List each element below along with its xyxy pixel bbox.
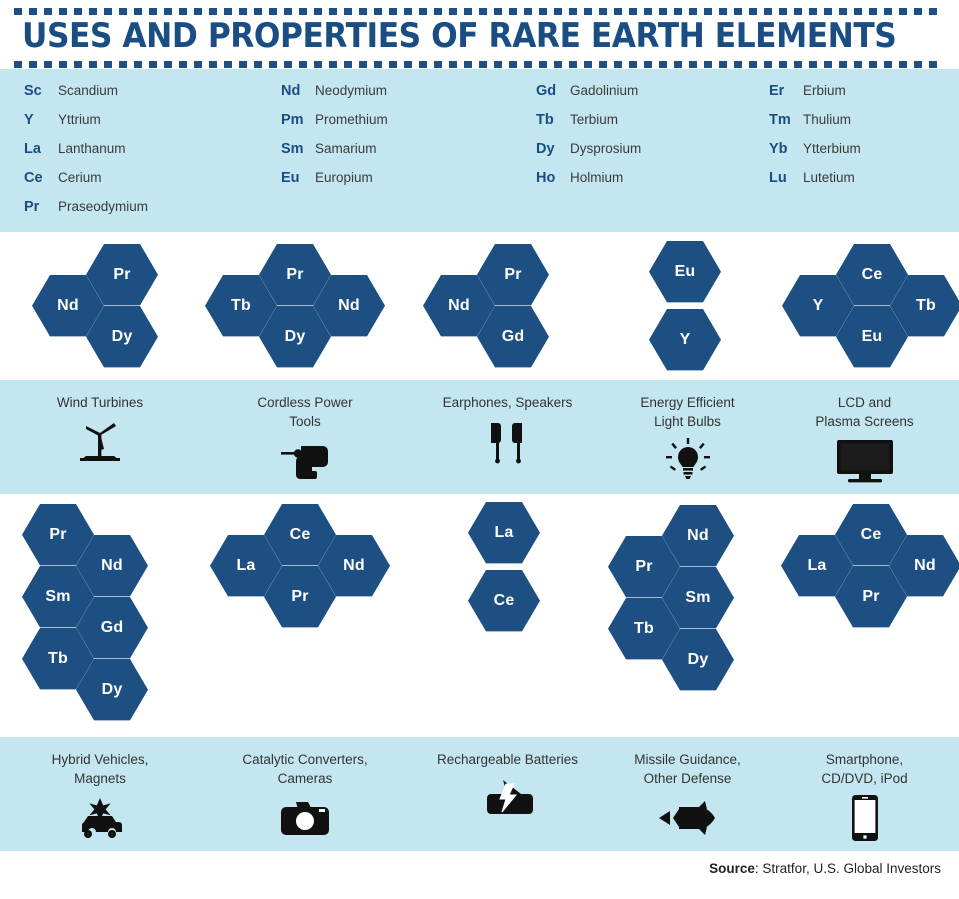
rule-dot: [404, 8, 412, 15]
rule-dot: [329, 61, 337, 68]
hex-cluster: YCeEuTb: [770, 232, 959, 380]
legend-symbol: Yb: [769, 141, 803, 157]
use-label-cell: Energy Efficient Light Bulbs: [605, 380, 770, 494]
rule-dot: [89, 8, 97, 15]
rule-dot: [839, 8, 847, 15]
rule-dot: [449, 61, 457, 68]
hex-cluster-canvas: NdPrGd: [410, 232, 605, 380]
rule-dot: [239, 8, 247, 15]
legend-entry: YbYtterbium: [769, 141, 959, 170]
rule-dot: [524, 61, 532, 68]
rule-dot: [614, 61, 622, 68]
rule-dot: [674, 61, 682, 68]
legend-symbol: Nd: [281, 83, 315, 99]
rule-dot: [374, 8, 382, 15]
legend-symbol: Eu: [281, 170, 315, 186]
rule-dot: [764, 8, 772, 15]
element-hexagon-symbol: Nd: [914, 557, 936, 575]
title-bar: USES AND PROPERTIES OF RARE EARTH ELEMEN…: [0, 15, 959, 61]
element-hexagon-symbol: Tb: [231, 297, 251, 315]
element-hexagon-symbol: Nd: [101, 557, 123, 575]
battery-charge-icon: [481, 775, 535, 823]
legend-entry: HoHolmium: [536, 170, 769, 199]
rule-dot: [734, 61, 742, 68]
smartphone-icon: [850, 794, 880, 842]
element-hexagon-symbol: Pr: [862, 588, 879, 606]
legend-element-name: Cerium: [58, 170, 102, 185]
use-label-cell: Wind Turbines: [0, 380, 200, 494]
legend-symbol: Tb: [536, 112, 570, 128]
legend-column: NdNeodymiumPmPromethiumSmSamariumEuEurop…: [281, 83, 536, 228]
rule-dot: [449, 8, 457, 15]
rule-dot: [344, 61, 352, 68]
hex-cluster-canvas: NdPrDy: [0, 232, 200, 380]
element-hexagon-symbol: Pr: [635, 558, 652, 576]
rule-dot: [644, 61, 652, 68]
rule-dot: [794, 8, 802, 15]
rule-dot: [44, 8, 52, 15]
rule-dot: [659, 61, 667, 68]
rule-dot: [929, 61, 937, 68]
legend-entry: PrPraseodymium: [24, 199, 281, 228]
rule-dot: [584, 61, 592, 68]
missile-icon: [657, 794, 719, 842]
element-hexagon-symbol: Nd: [338, 297, 360, 315]
legend-entry: LaLanthanum: [24, 141, 281, 170]
rule-dot: [464, 61, 472, 68]
rule-dot: [59, 8, 67, 15]
use-label-text: Energy Efficient Light Bulbs: [640, 393, 734, 431]
legend-element-name: Lutetium: [803, 170, 855, 185]
rule-dot: [359, 61, 367, 68]
use-label-row-2: Hybrid Vehicles, MagnetsCatalytic Conver…: [0, 737, 959, 851]
element-legend: ScScandiumYYttriumLaLanthanumCeCeriumPrP…: [0, 69, 959, 232]
rule-dot: [164, 61, 172, 68]
legend-symbol: Ho: [536, 170, 570, 186]
legend-element-name: Gadolinium: [570, 83, 638, 98]
legend-entry: GdGadolinium: [536, 83, 769, 112]
legend-entry: PmPromethium: [281, 112, 536, 141]
use-label-text: Earphones, Speakers: [443, 393, 573, 412]
rule-dot: [884, 61, 892, 68]
rule-dot: [194, 8, 202, 15]
legend-element-name: Lanthanum: [58, 141, 126, 156]
element-hexagon[interactable]: Ce: [468, 569, 540, 633]
hex-cluster: LaCeNdPr: [200, 494, 410, 737]
rule-dot: [59, 61, 67, 68]
hex-cluster-row-2: PrNdSmGdTbDyLaCeNdPrLaCeNdPrSmTbDyLaCeNd…: [0, 494, 959, 737]
rule-dot: [74, 61, 82, 68]
rule-dot: [809, 8, 817, 15]
legend-column: ErErbiumTmThuliumYbYtterbiumLuLutetium: [769, 83, 959, 228]
legend-column: GdGadoliniumTbTerbiumDyDysprosiumHoHolmi…: [536, 83, 769, 228]
use-label-text: Cordless Power Tools: [257, 393, 352, 431]
legend-element-name: Europium: [315, 170, 373, 185]
legend-element-name: Samarium: [315, 141, 377, 156]
rule-dot: [374, 61, 382, 68]
use-label-cell: Catalytic Converters, Cameras: [200, 737, 410, 851]
hex-cluster: LaCeNdPr: [770, 494, 959, 737]
rule-dot: [284, 61, 292, 68]
rule-dot: [569, 61, 577, 68]
legend-entry: CeCerium: [24, 170, 281, 199]
use-label-cell: Smartphone, CD/DVD, iPod: [770, 737, 959, 851]
rule-dot: [164, 8, 172, 15]
rule-dot: [779, 61, 787, 68]
source-text: : Stratfor, U.S. Global Investors: [755, 861, 941, 876]
element-hexagon-symbol: La: [494, 524, 513, 542]
element-hexagon-symbol: Y: [813, 297, 824, 315]
use-label-cell: Hybrid Vehicles, Magnets: [0, 737, 200, 851]
top-dotted-rule: [0, 7, 959, 15]
element-hexagon-symbol: Gd: [101, 619, 124, 637]
rule-dot: [539, 61, 547, 68]
rule-dot: [719, 8, 727, 15]
rule-dot: [44, 61, 52, 68]
use-label-text: Smartphone, CD/DVD, iPod: [821, 750, 907, 788]
element-hexagon[interactable]: Eu: [649, 240, 721, 304]
rule-dot: [599, 61, 607, 68]
rule-dot: [794, 61, 802, 68]
rule-dot: [479, 61, 487, 68]
rule-dot: [869, 8, 877, 15]
rule-dot: [494, 8, 502, 15]
car-magnet-icon: [74, 794, 126, 842]
rule-dot: [404, 61, 412, 68]
rule-dot: [569, 8, 577, 15]
monitor-icon: [835, 437, 895, 485]
light-bulb-icon: [664, 437, 712, 485]
rule-dot: [149, 8, 157, 15]
legend-symbol: Er: [769, 83, 803, 99]
rule-dot: [179, 8, 187, 15]
use-label-cell: Earphones, Speakers: [410, 380, 605, 494]
legend-symbol: Ce: [24, 170, 58, 186]
hex-cluster-canvas: LaCeNdPr: [770, 494, 959, 737]
rule-dot: [284, 8, 292, 15]
legend-column: ScScandiumYYttriumLaLanthanumCeCeriumPrP…: [24, 83, 281, 228]
rule-dot: [644, 8, 652, 15]
rule-dot: [134, 8, 142, 15]
legend-entry: YYttrium: [24, 112, 281, 141]
element-hexagon-symbol: Ce: [861, 526, 882, 544]
hex-cluster-canvas: PrNdSmGdTbDy: [0, 494, 200, 737]
rule-dot: [734, 8, 742, 15]
rule-dot: [884, 8, 892, 15]
element-hexagon-symbol: Ce: [290, 526, 311, 544]
rule-dot: [689, 8, 697, 15]
rule-dot: [329, 8, 337, 15]
rule-dot: [299, 8, 307, 15]
rule-dot: [509, 8, 517, 15]
legend-entry: NdNeodymium: [281, 83, 536, 112]
rule-dot: [719, 61, 727, 68]
legend-symbol: Sc: [24, 83, 58, 99]
rule-dot: [824, 8, 832, 15]
legend-element-name: Praseodymium: [58, 199, 148, 214]
legend-columns: ScScandiumYYttriumLaLanthanumCeCeriumPrP…: [0, 83, 959, 228]
element-hexagon-symbol: Tb: [916, 297, 936, 315]
hex-cluster-canvas: NdPrSmTbDy: [605, 494, 770, 737]
hex-cluster: TbPrDyNd: [200, 232, 410, 380]
use-label-row-1: Wind TurbinesCordless Power ToolsEarphon…: [0, 380, 959, 494]
legend-entry: TmThulium: [769, 112, 959, 141]
legend-entry: SmSamarium: [281, 141, 536, 170]
legend-element-name: Ytterbium: [803, 141, 861, 156]
rule-dot: [629, 61, 637, 68]
rule-dot: [149, 61, 157, 68]
legend-element-name: Scandium: [58, 83, 118, 98]
element-hexagon-symbol: Tb: [634, 620, 654, 638]
rule-dot: [239, 61, 247, 68]
element-hexagon-symbol: Dy: [112, 328, 133, 346]
hex-cluster: NdPrDy: [0, 232, 200, 380]
legend-element-name: Erbium: [803, 83, 846, 98]
legend-element-name: Yttrium: [58, 112, 101, 127]
rule-dot: [914, 61, 922, 68]
legend-entry: DyDysprosium: [536, 141, 769, 170]
legend-symbol: Dy: [536, 141, 570, 157]
rule-dot: [104, 61, 112, 68]
element-hexagon-symbol: Dy: [102, 681, 123, 699]
rule-dot: [194, 61, 202, 68]
hex-cluster-canvas: TbPrDyNd: [200, 232, 410, 380]
hex-cluster-row-1: NdPrDyTbPrDyNdNdPrGdEuYYCeEuTb: [0, 232, 959, 380]
rule-dot: [749, 61, 757, 68]
element-hexagon-symbol: Pr: [286, 266, 303, 284]
legend-symbol: Pr: [24, 199, 58, 215]
hex-cluster: EuY: [605, 232, 770, 380]
legend-entry: EuEuropium: [281, 170, 536, 199]
rule-dot: [764, 61, 772, 68]
rule-dot: [359, 8, 367, 15]
rule-dot: [749, 8, 757, 15]
rule-dot: [389, 61, 397, 68]
rule-dot: [119, 61, 127, 68]
earphones-icon: [485, 418, 531, 466]
rule-dot: [224, 8, 232, 15]
rule-dot: [659, 8, 667, 15]
rule-dot: [119, 8, 127, 15]
rule-dot: [299, 61, 307, 68]
hex-cluster: PrNdSmGdTbDy: [0, 494, 200, 737]
legend-entry: TbTerbium: [536, 112, 769, 141]
rule-dot: [104, 8, 112, 15]
element-hexagon-symbol: Pr: [49, 526, 66, 544]
hex-cluster-canvas: LaCe: [410, 494, 605, 737]
rule-dot: [179, 61, 187, 68]
element-hexagon-symbol: Dy: [688, 651, 709, 669]
rule-dot: [269, 8, 277, 15]
rule-dot: [839, 61, 847, 68]
legend-element-name: Holmium: [570, 170, 623, 185]
element-hexagon-symbol: Sm: [685, 589, 710, 607]
rule-dot: [509, 61, 517, 68]
rule-dot: [314, 8, 322, 15]
element-hexagon-symbol: Nd: [57, 297, 79, 315]
rule-dot: [89, 61, 97, 68]
rule-dot: [209, 8, 217, 15]
bottom-dotted-rule: [0, 61, 959, 69]
legend-symbol: Sm: [281, 141, 315, 157]
legend-symbol: Pm: [281, 112, 315, 128]
hex-cluster: NdPrGd: [410, 232, 605, 380]
legend-symbol: Tm: [769, 112, 803, 128]
hex-cluster-canvas: LaCeNdPr: [200, 494, 410, 737]
legend-symbol: Y: [24, 112, 58, 128]
element-hexagon-symbol: Pr: [504, 266, 521, 284]
use-label-text: Rechargeable Batteries: [437, 750, 578, 769]
rule-dot: [134, 61, 142, 68]
rule-dot: [539, 8, 547, 15]
rule-dot: [704, 61, 712, 68]
element-hexagon[interactable]: Y: [649, 308, 721, 372]
legend-symbol: Lu: [769, 170, 803, 186]
element-hexagon-symbol: Pr: [113, 266, 130, 284]
rule-dot: [14, 8, 22, 15]
use-label-text: Hybrid Vehicles, Magnets: [52, 750, 149, 788]
element-hexagon-symbol: La: [236, 557, 255, 575]
rule-dot: [779, 8, 787, 15]
element-hexagon-symbol: Ce: [862, 266, 883, 284]
element-hexagon[interactable]: La: [468, 501, 540, 565]
wind-turbine-icon: [74, 418, 126, 466]
rule-dot: [344, 8, 352, 15]
legend-entry: LuLutetium: [769, 170, 959, 199]
use-label-cell: Rechargeable Batteries: [410, 737, 605, 851]
element-hexagon-symbol: Nd: [343, 557, 365, 575]
rule-dot: [899, 61, 907, 68]
legend-element-name: Neodymium: [315, 83, 387, 98]
element-hexagon-symbol: Dy: [285, 328, 306, 346]
rule-dot: [689, 61, 697, 68]
element-hexagon-symbol: Y: [680, 331, 691, 349]
rule-dot: [614, 8, 622, 15]
rule-dot: [29, 61, 37, 68]
legend-symbol: Gd: [536, 83, 570, 99]
camera-icon: [279, 794, 331, 842]
rule-dot: [269, 61, 277, 68]
rule-dot: [899, 8, 907, 15]
legend-element-name: Promethium: [315, 112, 388, 127]
rule-dot: [209, 61, 217, 68]
source-label: Source: [709, 861, 755, 876]
element-hexagon-symbol: Nd: [448, 297, 470, 315]
rule-dot: [674, 8, 682, 15]
rule-dot: [599, 8, 607, 15]
rule-dot: [419, 8, 427, 15]
hex-cluster: NdPrSmTbDy: [605, 494, 770, 737]
rule-dot: [554, 61, 562, 68]
rule-dot: [464, 8, 472, 15]
element-hexagon-symbol: Gd: [502, 328, 525, 346]
rule-dot: [314, 61, 322, 68]
use-label-cell: LCD and Plasma Screens: [770, 380, 959, 494]
element-hexagon-symbol: La: [807, 557, 826, 575]
source-bar: Source: Stratfor, U.S. Global Investors: [0, 851, 959, 887]
hex-cluster: LaCe: [410, 494, 605, 737]
rule-dot: [629, 8, 637, 15]
rule-dot: [254, 61, 262, 68]
rule-dot: [824, 61, 832, 68]
rule-dot: [929, 8, 937, 15]
use-label-text: Wind Turbines: [57, 393, 143, 412]
page-title: USES AND PROPERTIES OF RARE EARTH ELEMEN…: [22, 19, 884, 55]
rule-dot: [224, 61, 232, 68]
rule-dot: [809, 61, 817, 68]
rule-dot: [854, 61, 862, 68]
use-label-text: Missile Guidance, Other Defense: [634, 750, 741, 788]
legend-entry: ErErbium: [769, 83, 959, 112]
rule-dot: [584, 8, 592, 15]
legend-element-name: Dysprosium: [570, 141, 641, 156]
hex-cluster-canvas: EuY: [605, 232, 770, 380]
use-label-cell: Cordless Power Tools: [200, 380, 410, 494]
rule-dot: [434, 61, 442, 68]
rule-dot: [869, 61, 877, 68]
rule-dot: [479, 8, 487, 15]
element-hexagon-symbol: Pr: [291, 588, 308, 606]
rule-dot: [494, 61, 502, 68]
hex-cluster-canvas: YCeEuTb: [770, 232, 959, 380]
element-hexagon-symbol: Eu: [675, 263, 696, 281]
use-label-text: Catalytic Converters, Cameras: [242, 750, 367, 788]
rule-dot: [74, 8, 82, 15]
rule-dot: [704, 8, 712, 15]
use-label-text: LCD and Plasma Screens: [815, 393, 913, 431]
rule-dot: [389, 8, 397, 15]
element-hexagon-symbol: Nd: [687, 527, 709, 545]
legend-element-name: Thulium: [803, 112, 851, 127]
rule-dot: [914, 8, 922, 15]
rule-dot: [254, 8, 262, 15]
element-hexagon-symbol: Sm: [45, 588, 70, 606]
rule-dot: [524, 8, 532, 15]
element-hexagon-symbol: Tb: [48, 650, 68, 668]
drill-icon: [277, 437, 333, 485]
rule-dot: [554, 8, 562, 15]
legend-element-name: Terbium: [570, 112, 618, 127]
element-hexagon-symbol: Ce: [494, 592, 515, 610]
rule-dot: [854, 8, 862, 15]
rule-dot: [419, 61, 427, 68]
element-hexagon-symbol: Eu: [862, 328, 883, 346]
rule-dot: [434, 8, 442, 15]
rule-dot: [29, 8, 37, 15]
rule-dot: [14, 61, 22, 68]
legend-symbol: La: [24, 141, 58, 157]
legend-entry: ScScandium: [24, 83, 281, 112]
use-label-cell: Missile Guidance, Other Defense: [605, 737, 770, 851]
